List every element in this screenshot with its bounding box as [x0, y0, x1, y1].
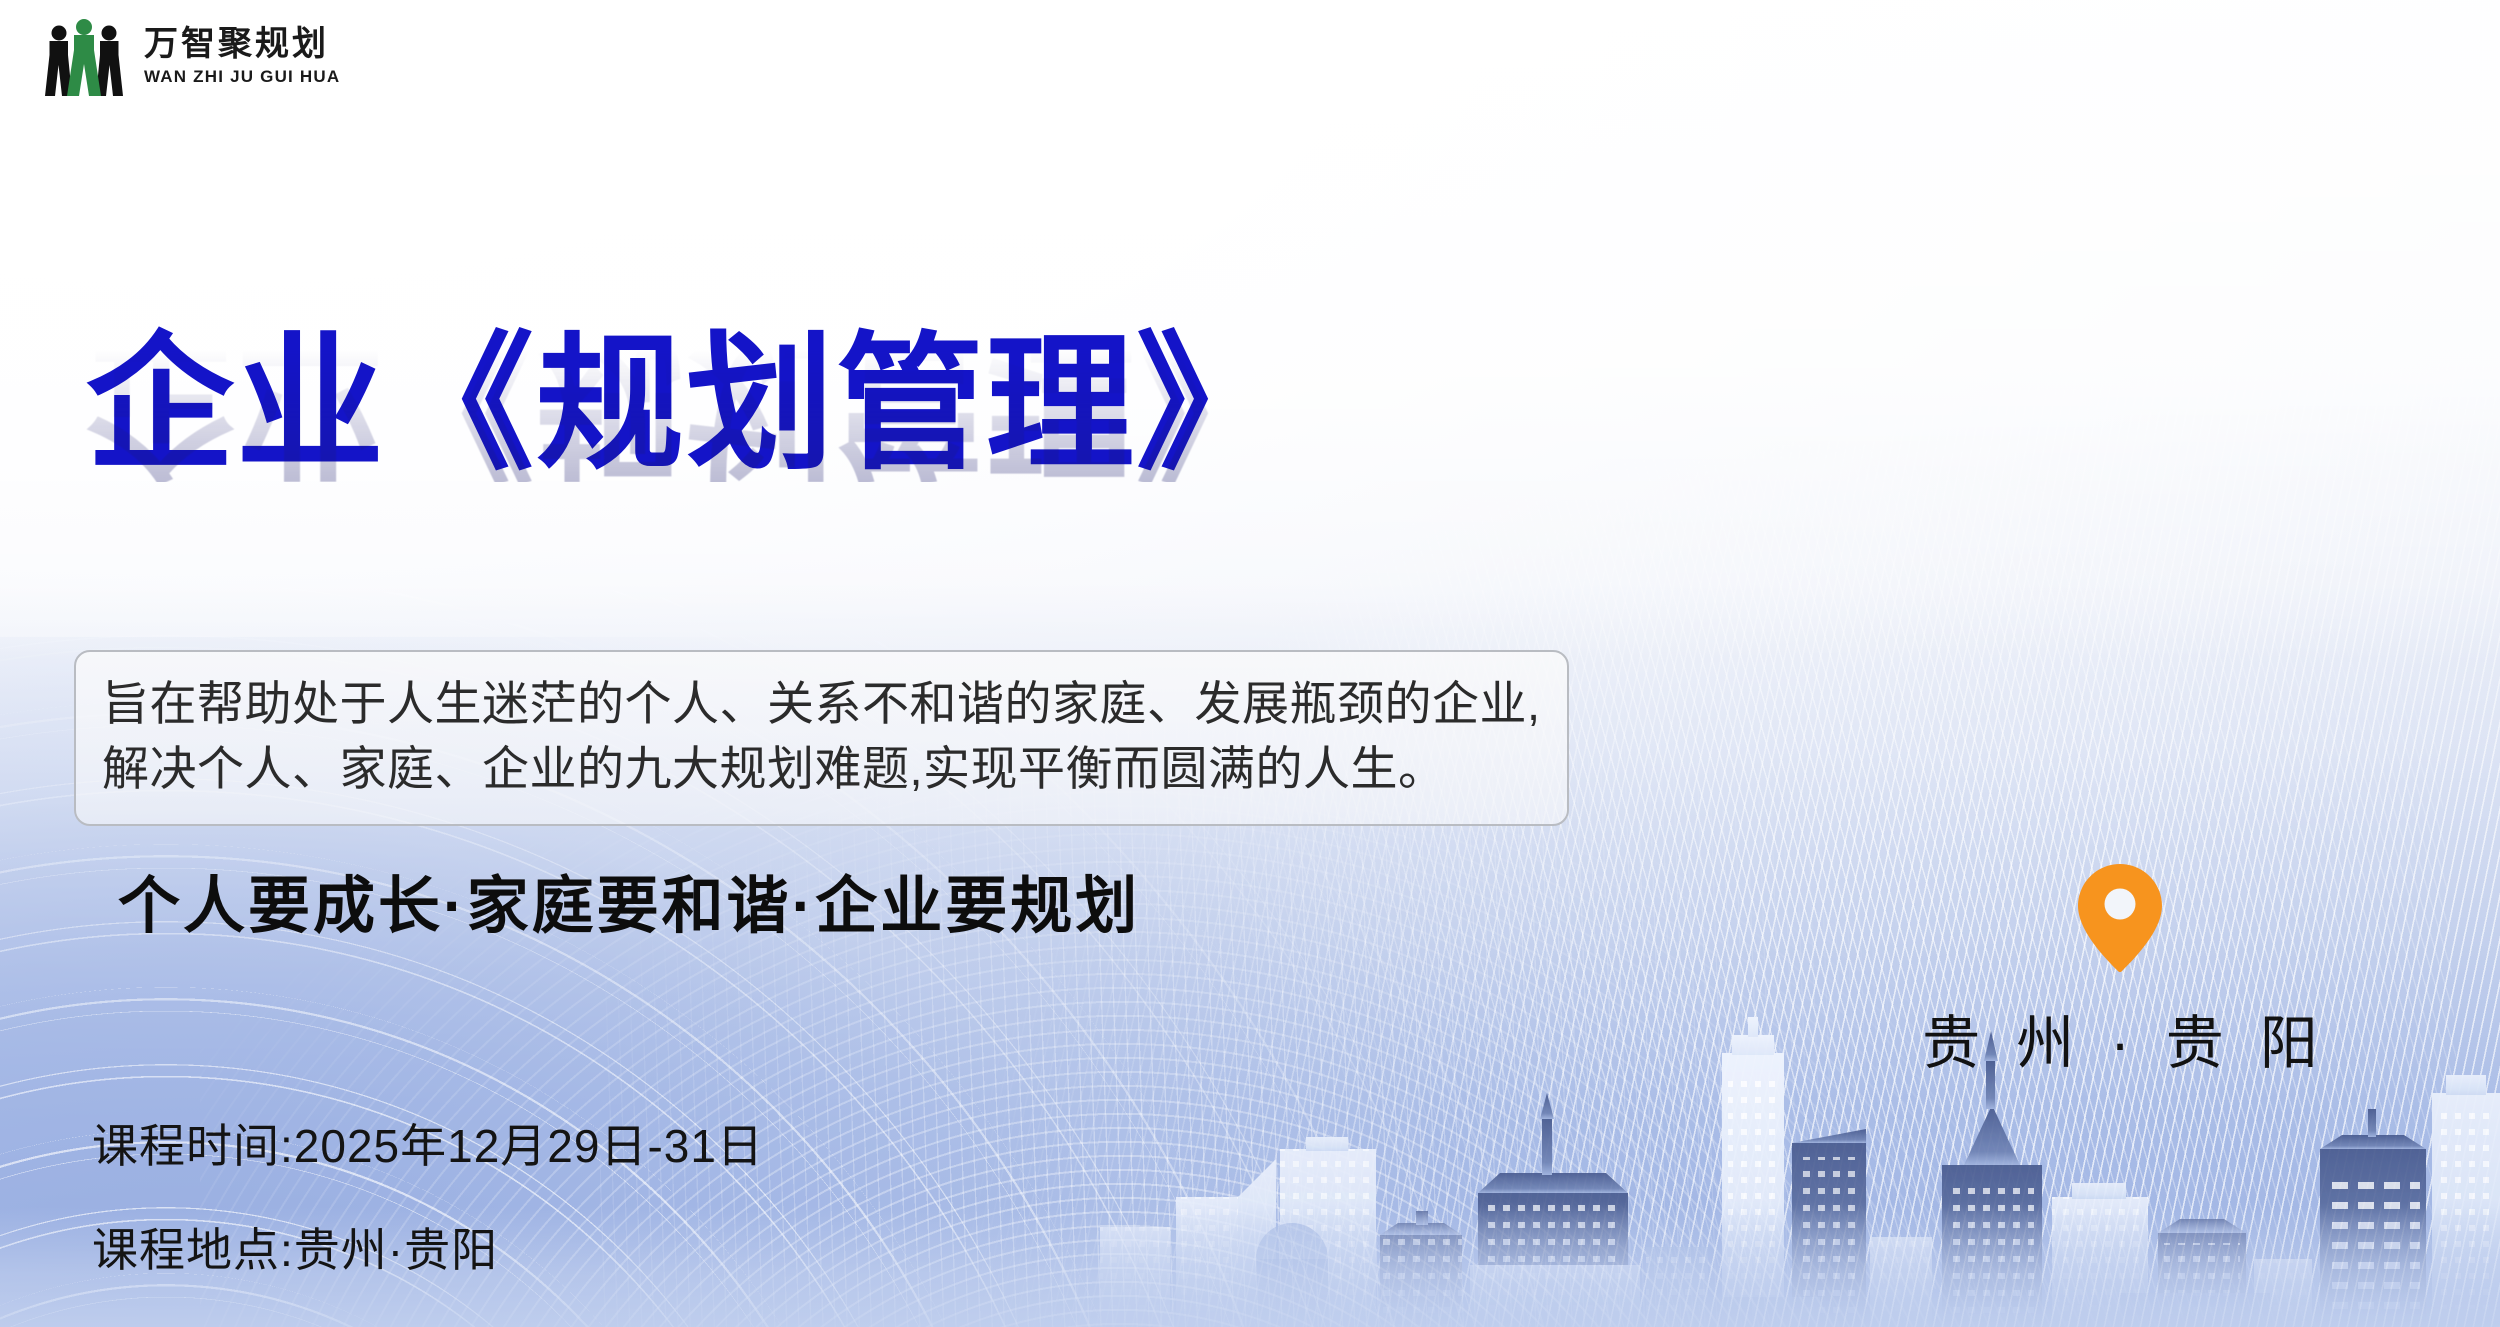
description-box: 旨在帮助处于人生迷茫的个人、关系不和谐的家庭、发展瓶颈的企业, 解决个人、家庭、… [74, 650, 1569, 826]
brand-name-cn: 万智聚规划 [144, 27, 340, 63]
brand-logo-text: 万智聚规划 WAN ZHI JU GUI HUA [144, 27, 340, 87]
course-time: 课程时间:2025年12月29日-31日 [92, 1110, 764, 1176]
course-place: 课程地点:贵州·贵阳 [92, 1214, 764, 1280]
promotional-banner: 万智聚规划 WAN ZHI JU GUI HUA 企业《规划管理》 企业《规划管… [0, 0, 2500, 1327]
slogan-text: 个人要成长·家庭要和谐·企业要规划 [118, 855, 1140, 945]
page-title: 企业《规划管理》 [86, 330, 1646, 481]
course-info: 课程时间:2025年12月29日-31日 课程地点:贵州·贵阳 [92, 1110, 764, 1280]
location-label: 贵 州 · 贵 阳 [1912, 996, 2328, 1080]
map-pin-icon [2075, 862, 2165, 974]
three-people-logo-icon [38, 18, 130, 96]
hero-title-wrap: 企业《规划管理》 企业《规划管理》 [86, 330, 1646, 481]
brand-logo[interactable]: 万智聚规划 WAN ZHI JU GUI HUA [38, 18, 340, 96]
location-badge: 贵 州 · 贵 阳 [1950, 862, 2290, 1080]
brand-name-en: WAN ZHI JU GUI HUA [144, 67, 340, 87]
description-line-2: 解决个人、家庭、企业的九大规划难题,实现平衡而圆满的人生。 [102, 737, 1541, 802]
description-line-1: 旨在帮助处于人生迷茫的个人、关系不和谐的家庭、发展瓶颈的企业, [102, 672, 1541, 737]
